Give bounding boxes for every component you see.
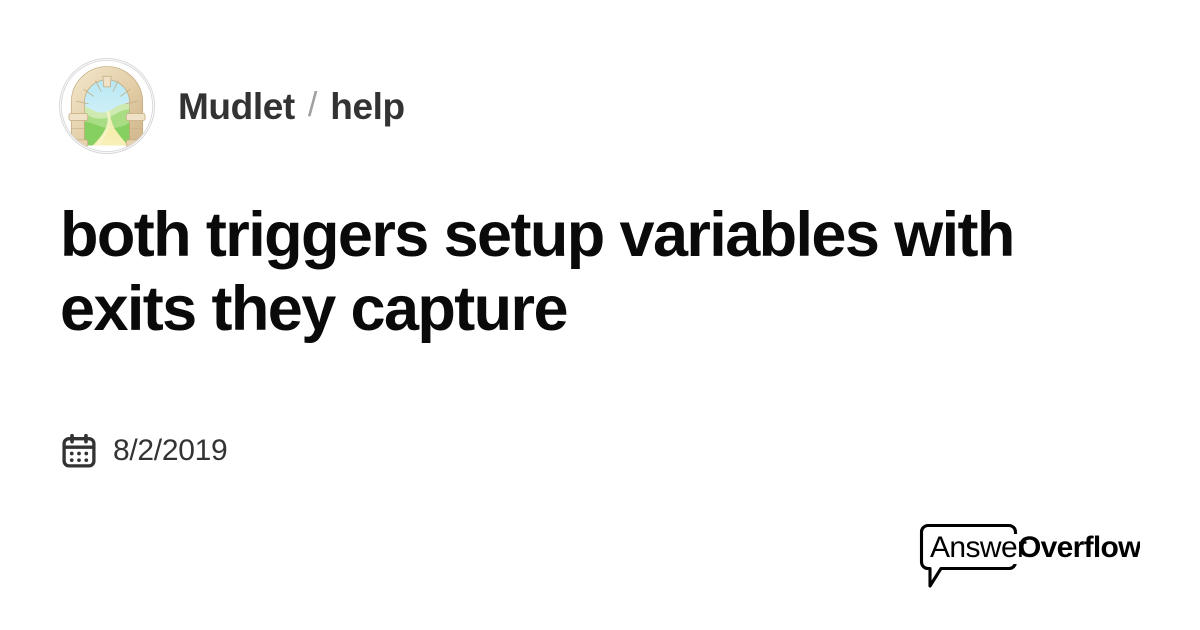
footer: Answer Overflow bbox=[60, 512, 1140, 590]
avatar bbox=[60, 59, 154, 153]
logo-word-answer: Answer bbox=[930, 531, 1027, 564]
breadcrumb: Mudlet / help bbox=[60, 58, 1140, 154]
page-title: both triggers setup variables with exits… bbox=[60, 198, 1140, 346]
post-date-text: 8/2/2019 bbox=[113, 436, 227, 466]
breadcrumb-trail: Mudlet / help bbox=[178, 88, 405, 125]
answer-overflow-logo[interactable]: Answer Overflow bbox=[908, 512, 1140, 590]
breadcrumb-server-name[interactable]: Mudlet bbox=[178, 88, 295, 125]
open-graph-card: Mudlet / help both triggers setup variab… bbox=[0, 0, 1200, 630]
calendar-icon bbox=[60, 432, 98, 470]
logo-word-overflow: Overflow bbox=[1018, 531, 1140, 564]
mudlet-archway-avatar-icon bbox=[60, 59, 154, 153]
breadcrumb-channel-name[interactable]: help bbox=[330, 88, 404, 125]
breadcrumb-separator: / bbox=[308, 88, 317, 122]
post-date: 8/2/2019 bbox=[60, 432, 1140, 470]
